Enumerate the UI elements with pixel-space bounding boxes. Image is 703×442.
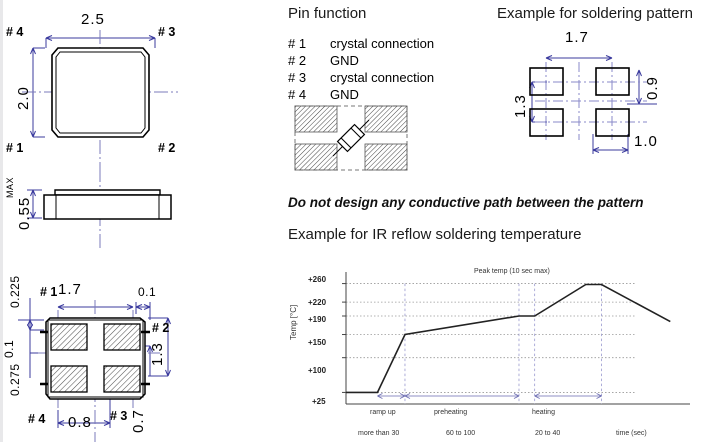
pin-function-list: # 1 crystal connection # 2 GND # 3 cryst… bbox=[288, 37, 434, 101]
pin-function-row-4-pin: # 4 bbox=[288, 88, 330, 101]
pin-label-bottom-right: # 2 bbox=[158, 142, 175, 155]
chart-ytick-190: +190 bbox=[308, 316, 326, 324]
dimension-top-offset-0p225: 0.225 bbox=[9, 275, 21, 308]
crystal-internal-diagram bbox=[293, 104, 413, 172]
chart-ytick-260: +260 bbox=[308, 276, 326, 284]
dimension-mid-offset-0p275: 0.275 bbox=[9, 363, 21, 396]
package-side-view: 0.55 MAX bbox=[0, 168, 240, 250]
dimension-pad-height-0p7: 0.7 bbox=[131, 409, 146, 433]
dimension-pad-width-0p8: 0.8 bbox=[68, 415, 92, 430]
chart-ytick-150: +150 bbox=[308, 339, 326, 347]
soldering-pattern-section: Example for soldering pattern bbox=[497, 6, 693, 21]
bottom-pin-label-4: # 4 bbox=[28, 413, 45, 426]
chart-zone-label-heating: heating bbox=[532, 409, 555, 416]
reflow-section-title: Example for IR reflow soldering temperat… bbox=[288, 227, 581, 242]
chart-xtick-60-to-100: 60 to 100 bbox=[446, 430, 475, 437]
chart-xtick-20-to-40: 20 to 40 bbox=[535, 430, 560, 437]
dimension-solder-height-1p3: 1.3 bbox=[513, 94, 528, 118]
chart-peak-annotation: Peak temp (10 sec max) bbox=[474, 268, 550, 275]
chart-xtick-more-than-30: more than 30 bbox=[358, 430, 399, 437]
bottom-pin-label-2: # 2 bbox=[152, 322, 169, 335]
dimension-solder-width-1p7: 1.7 bbox=[565, 30, 589, 45]
dimension-width-2p5: 2.5 bbox=[81, 12, 105, 27]
package-bottom-view: 1.7 0.1 0.225 0.1 0.275 0.8 1.3 0.7 # 1 … bbox=[0, 258, 250, 442]
dimension-height-0p55: 0.55 bbox=[17, 197, 32, 230]
package-top-view: # 4 # 3 # 1 # 2 2.5 2.0 bbox=[0, 0, 240, 175]
pin-function-row-3-pin: # 3 bbox=[288, 71, 330, 84]
conductive-path-warning: Do not design any conductive path betwee… bbox=[288, 196, 644, 210]
pin-function-row-1-desc: crystal connection bbox=[330, 37, 434, 50]
pin-function-row-3-desc: crystal connection bbox=[330, 71, 434, 84]
pin-function-row-2-desc: GND bbox=[330, 54, 359, 67]
dimension-height-2p0: 2.0 bbox=[16, 86, 31, 110]
pin-label-bottom-left: # 1 bbox=[6, 142, 23, 155]
pin-function-row-4-desc: GND bbox=[330, 88, 359, 101]
dimension-max-suffix: MAX bbox=[6, 177, 15, 198]
dimension-pad-gap-0p1: 0.1 bbox=[3, 340, 15, 358]
chart-ytick-220: +220 bbox=[308, 299, 326, 307]
bottom-pin-label-3: # 3 bbox=[110, 410, 127, 423]
bottom-pin-label-1: # 1 bbox=[40, 286, 57, 299]
dimension-pad-pitch-y-1p3: 1.3 bbox=[150, 342, 165, 366]
pin-label-top-right: # 3 bbox=[158, 26, 175, 39]
dimension-edge-gap-0p1: 0.1 bbox=[138, 286, 156, 298]
chart-y-axis-label: Temp [°C] bbox=[290, 305, 298, 340]
chart-x-axis-label: time (sec) bbox=[616, 430, 647, 437]
pin-function-title: Pin function bbox=[288, 6, 434, 21]
pin-function-section: Pin function # 1 crystal connection # 2 … bbox=[288, 6, 434, 101]
reflow-profile-chart: Temp [°C] +260 +220 +190 +150 +100 +25 P… bbox=[286, 262, 703, 442]
chart-ytick-25: +25 bbox=[312, 398, 326, 406]
pin-function-row-2-pin: # 2 bbox=[288, 54, 330, 67]
dimension-solder-pad-width-1p0: 1.0 bbox=[634, 134, 658, 149]
chart-ytick-100: +100 bbox=[308, 367, 326, 375]
chart-zone-label-rampup: ramp up bbox=[370, 409, 396, 416]
dimension-solder-pad-height-0p9: 0.9 bbox=[645, 76, 660, 100]
dimension-pad-pitch-x-1p7: 1.7 bbox=[58, 282, 82, 297]
soldering-pattern-drawing: 1.7 1.3 0.9 1.0 bbox=[497, 30, 703, 170]
chart-zone-label-preheating: preheating bbox=[434, 409, 467, 416]
soldering-pattern-title: Example for soldering pattern bbox=[497, 6, 693, 21]
pin-label-top-left: # 4 bbox=[6, 26, 23, 39]
pin-function-row-1-pin: # 1 bbox=[288, 37, 330, 50]
